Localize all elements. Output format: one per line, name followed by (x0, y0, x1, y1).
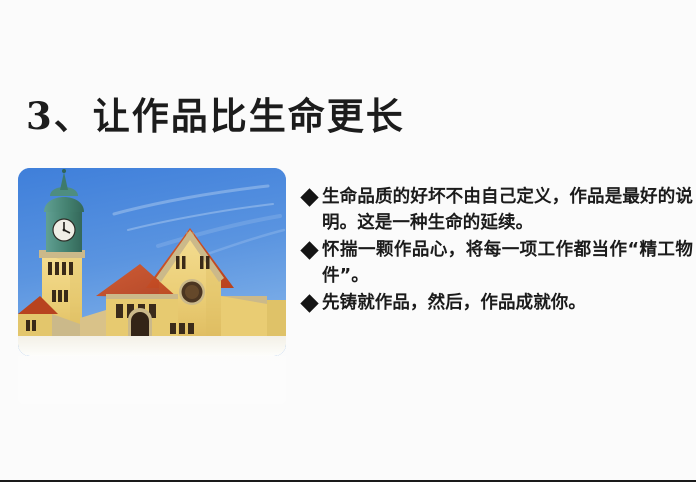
list-item: 怀揣一颗作品心，将每一项工作都当作“精工物件”。 (303, 237, 693, 289)
bullet-text: 怀揣一颗作品心，将每一项工作都当作“精工物件”。 (322, 237, 693, 289)
bullet-list: 生命品质的好坏不由自己定义，作品是最好的说明。这是一种生命的延续。 怀揣一颗作品… (303, 184, 693, 317)
church-photo (18, 168, 286, 356)
church-illustration (18, 168, 286, 356)
photo-reflection (18, 356, 286, 404)
reflection-illustration (18, 356, 286, 404)
diamond-bullet-icon (300, 188, 318, 206)
photo-figure (18, 168, 286, 400)
slide: 3、让作品比生命更长 (0, 0, 696, 482)
bullet-text: 生命品质的好坏不由自己定义，作品是最好的说明。这是一种生命的延续。 (322, 184, 693, 236)
list-item: 先铸就作品，然后，作品成就你。 (303, 290, 693, 316)
diamond-bullet-icon (300, 294, 318, 312)
page-title: 3、让作品比生命更长 (26, 96, 405, 137)
diamond-bullet-icon (300, 241, 318, 259)
bullet-text: 先铸就作品，然后，作品成就你。 (322, 290, 693, 316)
list-item: 生命品质的好坏不由自己定义，作品是最好的说明。这是一种生命的延续。 (303, 184, 693, 236)
